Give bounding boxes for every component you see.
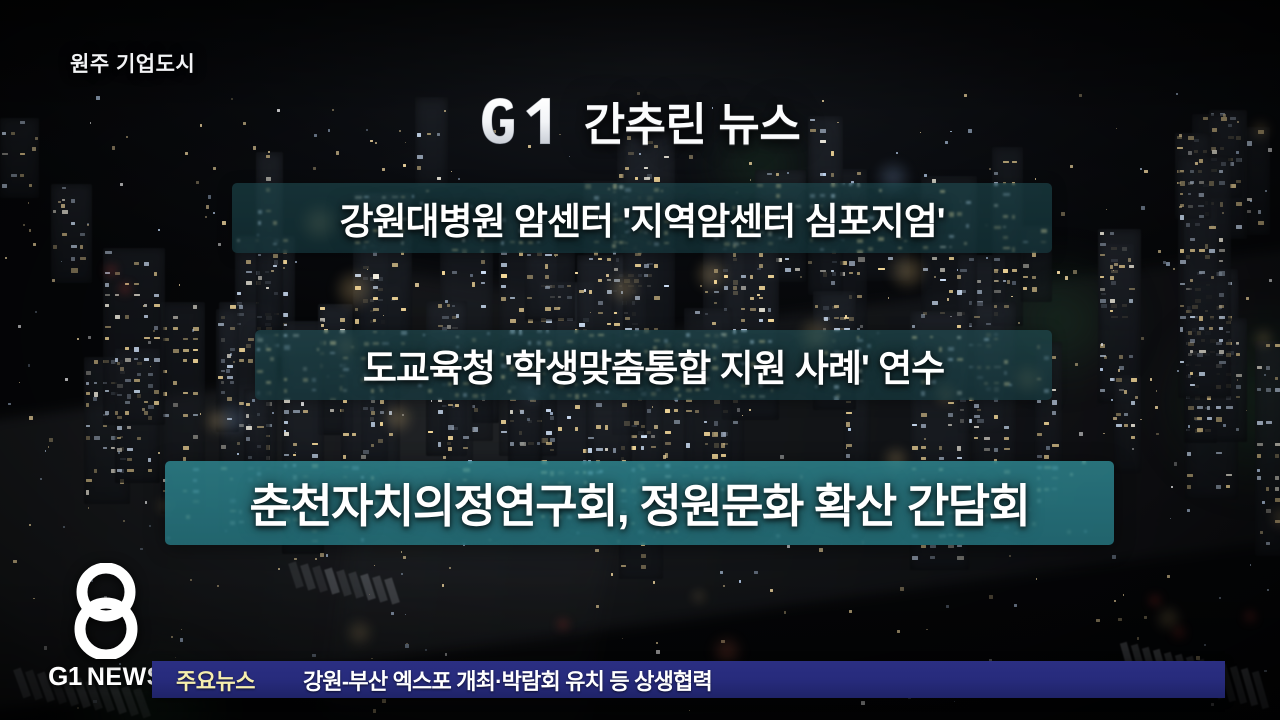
program-title-row: 간추린 뉴스: [0, 88, 1280, 153]
ticker-headline-text: 강원-부산 엑스포 개최·박람회 유치 등 상생협력: [303, 664, 712, 696]
broadcast-frame: 원주 기업도시 간추린 뉴스 강원대병원 암센터 '지역암센터 심포지엄' 도교…: [0, 0, 1280, 720]
number-eight-icon: [54, 563, 158, 659]
headline-text: 도교육청 '학생맞춤통합 지원 사례' 연수: [363, 338, 944, 392]
headline-text: 강원대병원 암센터 '지역암센터 심포지엄': [339, 191, 944, 245]
program-title: 간추린 뉴스: [584, 88, 801, 153]
headline-text: 춘천자치의정연구회, 정원문화 확산 간담회: [250, 470, 1030, 536]
g1-logo-icon: [480, 97, 572, 145]
location-label: 원주 기업도시: [70, 48, 195, 78]
headline-item-2[interactable]: 도교육청 '학생맞춤통합 지원 사례' 연수: [255, 330, 1052, 400]
headline-item-1[interactable]: 강원대병원 암센터 '지역암센터 심포지엄': [232, 183, 1052, 253]
channel-brand: G1: [48, 661, 82, 692]
channel-bug: G1 NEWS: [46, 563, 166, 692]
news-ticker-bar[interactable]: 주요뉴스 강원-부산 엑스포 개최·박람회 유치 등 상생협력: [152, 661, 1225, 698]
ticker-category-label: 주요뉴스: [176, 664, 255, 696]
channel-wordmark: G1 NEWS: [46, 661, 166, 692]
headline-item-3-active[interactable]: 춘천자치의정연구회, 정원문화 확산 간담회: [165, 461, 1114, 545]
